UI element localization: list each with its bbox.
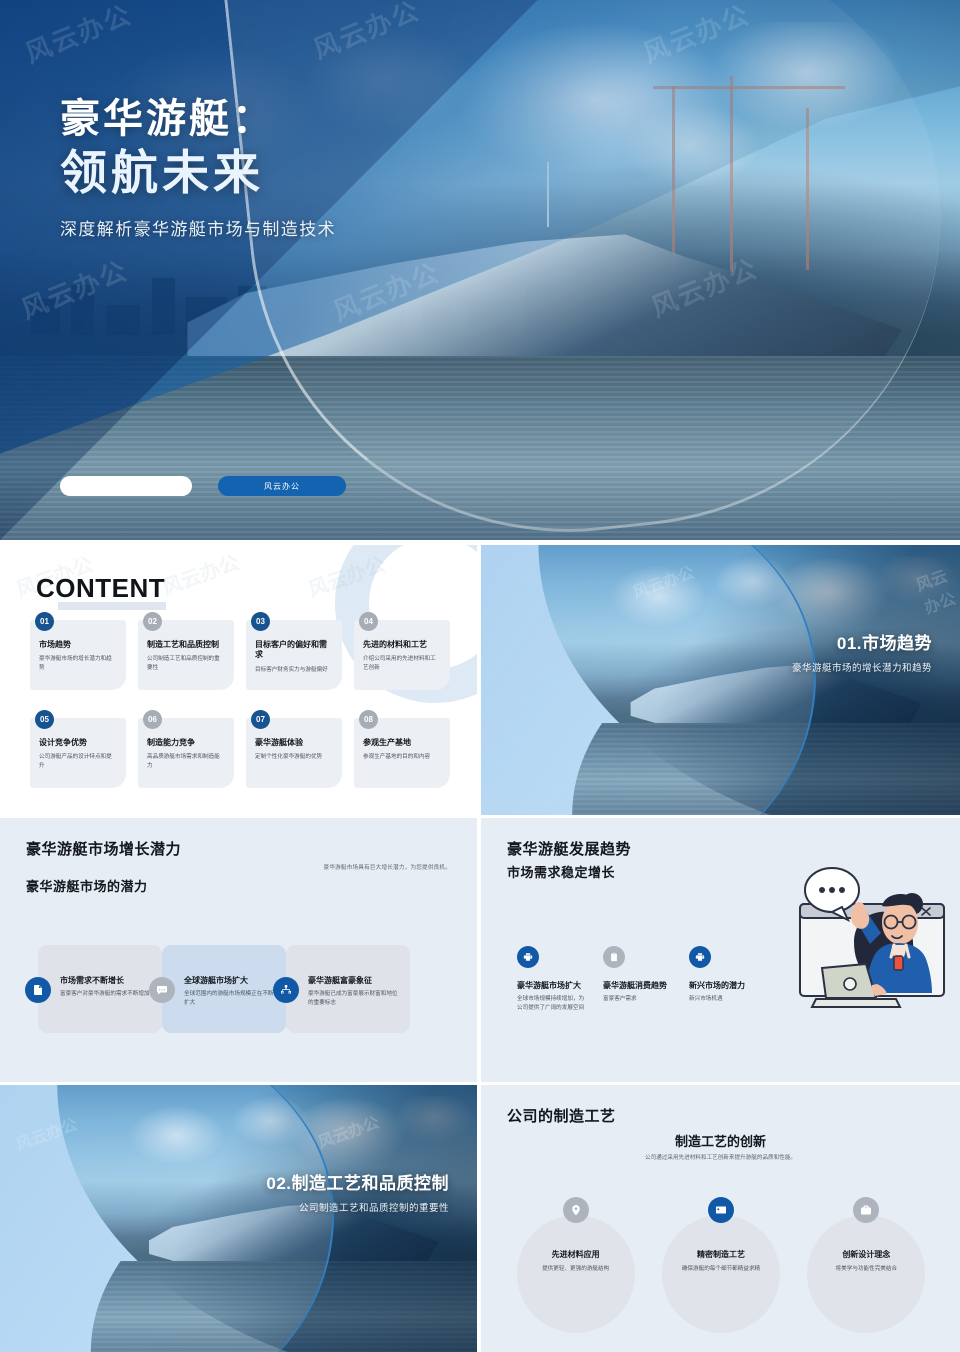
hero-title-line1: 豪华游艇： [60,96,620,143]
card-row-bottom: 05 设计竞争优势 公司游艇产品的设计特点和提升 06 制造能力竞争 高品质游艇… [30,718,450,788]
circle-description: 提供更轻、更强的游艇结构 [522,1265,630,1275]
feature-tile-group: 市场需求不断增长 富豪客户对豪华游艇的需求不断增加 全球游艇市场扩大 全球范围内… [38,945,410,1033]
feature-tile[interactable]: 全球游艇市场扩大 全球范围内的游艇市场规模正在不断扩大 [162,945,286,1033]
slide-yacht-development-trend[interactable]: 豪华游艇发展趋势 市场需求稳定增长 豪华游艇市场扩大 全球市场规模持续增加，为公… [481,818,960,1082]
presentation-deck: 风云办公 风云办公 风云办公 风云办公 风云办公 风云办公 豪华游艇： 领航未来… [0,0,960,1352]
center-heading: 制造工艺的创新 [481,1131,960,1150]
content-watermark-2: 风云办公 [157,546,242,601]
image-icon [708,1197,734,1223]
content-card[interactable]: 03 目标客户的偏好和需求 目标客户财务实力与游艇偏好 [246,620,342,690]
feature-column-group: 豪华游艇市场扩大 全球市场规模持续增加，为公司提供了广阔的发展空间 豪华游艇消费… [517,946,757,1013]
slide-hero-cover[interactable]: 风云办公 风云办公 风云办公 风云办公 风云办公 风云办公 豪华游艇： 领航未来… [0,0,960,540]
circle-heading: 创新设计理念 [796,1249,936,1260]
page-title: 公司的制造工艺 [507,1105,616,1126]
network-icon [273,977,299,1003]
document-icon [25,977,51,1003]
card-number-badge: 05 [35,710,54,729]
column-description: 全球市场规模持续增加，为公司提供了广阔的发展空间 [517,995,585,1013]
card-number-badge: 01 [35,612,54,631]
process-circle[interactable]: 精密制造工艺 确保游艇的每个细节都精益求精 [651,1197,791,1337]
section-text-block: 02.制造工艺和品质控制 公司制造工艺和品质控制的重要性 [266,1169,449,1214]
circle-description: 确保游艇的每个细节都精益求精 [667,1265,775,1275]
content-card[interactable]: 06 制造能力竞争 高品质游艇市场需求和制造能力 [138,718,234,788]
feature-tile[interactable]: 豪华游艇富豪象征 豪华游艇已成为富豪展示财富和地位的重要标志 [286,945,410,1033]
hero-title-line2: 领航未来 [60,145,620,200]
tile-heading: 豪华游艇富豪象征 [308,975,398,986]
tile-description: 全球范围内的游艇市场规模正在不断扩大 [184,990,274,1008]
location-pin-icon [563,1197,589,1223]
tile-heading: 市场需求不断增长 [60,975,150,986]
page-note: 豪华游艇市场具有巨大增长潜力，为您提供良机。 [324,863,451,871]
content-card[interactable]: 08 参观生产基地 参观生产基地的目的和内容 [354,718,450,788]
section-description: 公司制造工艺和品质控制的重要性 [266,1200,449,1214]
card-heading: 参观生产基地 [363,738,441,748]
tile-description: 富豪客户对豪华游艇的需求不断增加 [60,990,150,999]
card-number-badge: 03 [251,612,270,631]
card-description: 公司制造工艺和品质控制的重要性 [147,655,225,672]
slide-section-manufacturing[interactable]: 风云办公 风云办公 02.制造工艺和品质控制 公司制造工艺和品质控制的重要性 [0,1085,477,1352]
hero-button-group: 风云办公 [60,476,346,496]
feature-tile[interactable]: 市场需求不断增长 富豪客户对豪华游艇的需求不断增加 [38,945,162,1033]
card-row-top: 01 市场趋势 豪华游艇市场的增长潜力和趋势 02 制造工艺和品质控制 公司制造… [30,620,450,690]
card-heading: 市场趋势 [39,640,117,650]
tile-description: 豪华游艇已成为富豪展示财富和地位的重要标志 [308,990,398,1008]
column-description: 富豪客户需求 [603,995,671,1004]
tile-heading: 全球游艇市场扩大 [184,975,274,986]
content-card[interactable]: 07 豪华游艇体验 定制个性化豪华游艇的优势 [246,718,342,788]
hero-subtitle: 深度解析豪华游艇市场与制造技术 [60,215,620,240]
slide-table-of-contents[interactable]: 风云办公 风云办公 风云办公 CONTENT 01 市场趋势 豪华游艇市场的增长… [0,545,477,815]
card-description: 介绍公司采用的先进材料和工艺创新 [363,655,441,672]
card-description: 目标客户财务实力与游艇偏好 [255,666,333,675]
slide-section-market-trend[interactable]: 风云办公 风云办公 01.市场趋势 豪华游艇市场的增长潜力和趋势 [481,545,960,815]
section-description: 豪华游艇市场的增长潜力和趋势 [792,660,932,674]
page-subtitle: 豪华游艇市场的潜力 [26,876,148,895]
card-description: 公司游艇产品的设计特点和提升 [39,753,117,770]
card-number-badge: 08 [359,710,378,729]
content-card[interactable]: 05 设计竞争优势 公司游艇产品的设计特点和提升 [30,718,126,788]
card-description: 豪华游艇市场的增长潜力和趋势 [39,655,117,672]
content-card[interactable]: 01 市场趋势 豪华游艇市场的增长潜力和趋势 [30,620,126,690]
section-heading: 02.制造工艺和品质控制 [266,1169,449,1194]
card-heading: 豪华游艇体验 [255,738,333,748]
card-heading: 目标客户的偏好和需求 [255,640,333,661]
card-number-badge: 07 [251,710,270,729]
card-heading: 制造工艺和品质控制 [147,640,225,650]
hero-crane-3 [806,108,809,270]
process-circle[interactable]: 创新设计理念 将美学与功能性完美结合 [796,1197,936,1337]
content-card-grid: 01 市场趋势 豪华游艇市场的增长潜力和趋势 02 制造工艺和品质控制 公司制造… [30,620,450,800]
page-subtitle: 市场需求稳定增长 [507,862,615,881]
center-description: 公司通过采用先进材料和工艺创新来提升游艇的品质和性能。 [481,1153,960,1161]
feature-column[interactable]: 豪华游艇市场扩大 全球市场规模持续增加，为公司提供了广阔的发展空间 [517,946,585,1013]
card-description: 参观生产基地的目的和内容 [363,753,441,762]
hero-brand-button[interactable]: 风云办公 [218,476,346,496]
chat-icon [149,977,175,1003]
section-text-block: 01.市场趋势 豪华游艇市场的增长潜力和趋势 [792,629,932,674]
card-number-badge: 06 [143,710,162,729]
page-title: CONTENT [36,573,165,604]
column-heading: 豪华游艇市场扩大 [517,980,585,991]
section-heading: 01.市场趋势 [792,629,932,654]
feature-column[interactable]: 豪华游艇消费趋势 富豪客户需求 [603,946,671,1013]
section-dark-overlay [481,545,960,815]
circle-description: 将美学与功能性完美结合 [812,1265,920,1275]
page-title: 豪华游艇发展趋势 [507,838,631,859]
card-number-badge: 02 [143,612,162,631]
card-heading: 设计竞争优势 [39,738,117,748]
content-card[interactable]: 02 制造工艺和品质控制 公司制造工艺和品质控制的重要性 [138,620,234,690]
process-circle-group: 先进材料应用 提供更轻、更强的游艇结构 精密制造工艺 确保游艇的每个细节都精益求… [503,1197,939,1337]
circle-heading: 先进材料应用 [506,1249,646,1260]
circle-heading: 精密制造工艺 [651,1249,791,1260]
printer-icon [517,946,539,968]
card-heading: 制造能力竞争 [147,738,225,748]
page-title: 豪华游艇市场增长潜力 [26,838,181,859]
content-card[interactable]: 04 先进的材料和工艺 介绍公司采用的先进材料和工艺创新 [354,620,450,690]
printer-icon [689,946,711,968]
hero-text-block: 豪华游艇： 领航未来 深度解析豪华游艇市场与制造技术 [60,96,620,240]
card-heading: 先进的材料和工艺 [363,640,441,650]
slide-company-manufacturing-process[interactable]: 公司的制造工艺 制造工艺的创新 公司通过采用先进材料和工艺创新来提升游艇的品质和… [481,1085,960,1352]
slide-market-growth-potential[interactable]: 豪华游艇市场增长潜力 豪华游艇市场具有巨大增长潜力，为您提供良机。 豪华游艇市场… [0,818,477,1082]
hero-blank-button[interactable] [60,476,192,496]
briefcase-icon [853,1197,879,1223]
woman-presenting-laptop-illustration [734,860,954,1050]
card-number-badge: 04 [359,612,378,631]
card-description: 高品质游艇市场需求和制造能力 [147,753,225,770]
clipboard-icon [603,946,625,968]
card-description: 定制个性化豪华游艇的优势 [255,753,333,762]
column-heading: 豪华游艇消费趋势 [603,980,671,991]
process-circle[interactable]: 先进材料应用 提供更轻、更强的游艇结构 [506,1197,646,1337]
